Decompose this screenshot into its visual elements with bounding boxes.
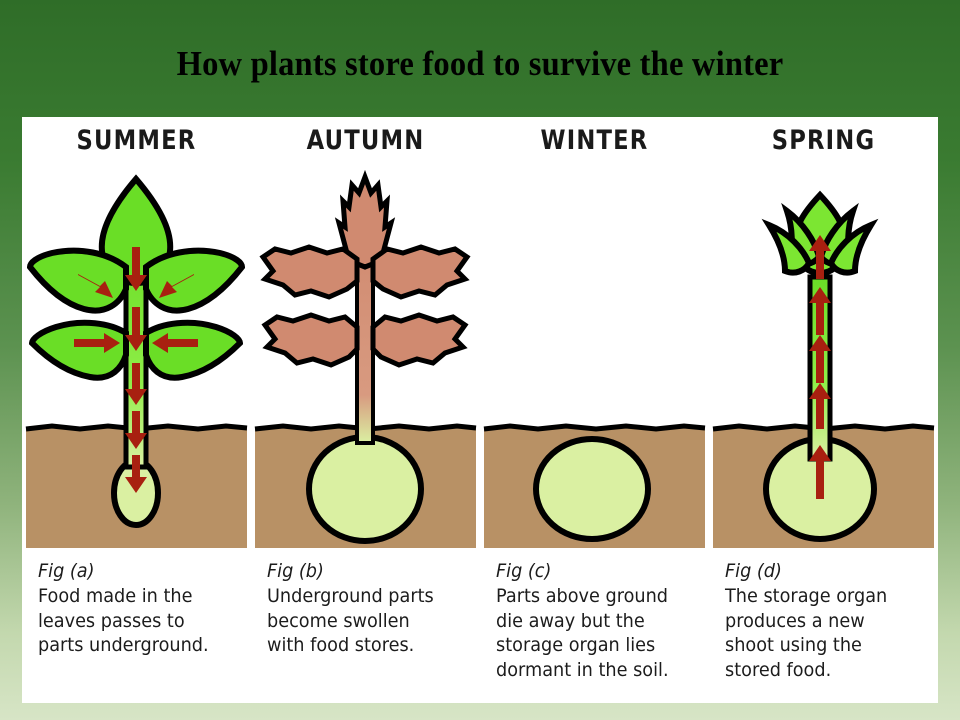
fig-label-d: Fig (d) [725, 559, 910, 584]
panel-autumn [251, 167, 480, 552]
panel-winter [480, 167, 709, 552]
page-title: How plants store food to survive the win… [34, 44, 927, 84]
season-header-row: SUMMER AUTUMN WINTER SPRING [22, 124, 938, 168]
caption-cell-c: Fig (c) Parts above ground die away but … [480, 559, 709, 699]
season-heading-spring: SPRING [727, 124, 919, 168]
fig-label-c: Fig (c) [496, 559, 681, 584]
slide-root: How plants store food to survive the win… [0, 0, 960, 720]
caption-cell-d: Fig (d) The storage organ produces a new… [709, 559, 938, 699]
season-heading-winter: WINTER [498, 124, 690, 168]
season-heading-summer: SUMMER [40, 124, 232, 168]
storage-organ-autumn [309, 437, 421, 541]
panel-summer [22, 167, 251, 552]
storage-organ-winter [536, 439, 648, 539]
fig-label-b: Fig (b) [267, 559, 452, 584]
fig-caption-c: Parts above ground die away but the stor… [496, 584, 681, 682]
caption-cell-a: Fig (a) Food made in the leaves passes t… [22, 559, 251, 699]
figure-card: SUMMER AUTUMN WINTER SPRING [22, 117, 938, 703]
winter-illustration [480, 167, 709, 552]
illustration-row [22, 167, 938, 552]
fig-caption-a: Food made in the leaves passes to parts … [38, 584, 223, 658]
fig-caption-d: The storage organ produces a new shoot u… [725, 584, 910, 682]
caption-row: Fig (a) Food made in the leaves passes t… [22, 559, 938, 699]
season-heading-autumn: AUTUMN [269, 124, 461, 168]
panel-spring [709, 167, 938, 552]
fig-caption-b: Underground parts become swollen with fo… [267, 584, 452, 658]
caption-cell-b: Fig (b) Underground parts become swollen… [251, 559, 480, 699]
spring-illustration [709, 167, 938, 552]
title-bar: How plants store food to survive the win… [0, 0, 960, 117]
fig-label-a: Fig (a) [38, 559, 223, 584]
summer-illustration [22, 167, 251, 552]
autumn-illustration [251, 167, 480, 552]
